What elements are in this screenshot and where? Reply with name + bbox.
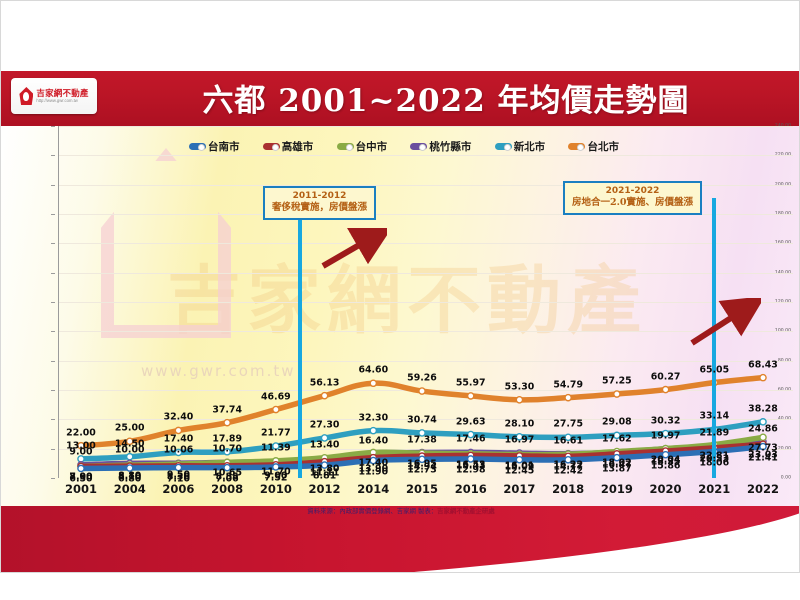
data-label-新北市-2016: 29.63 [456,416,486,427]
red-up-right-arrow-icon-2 [687,298,761,350]
data-label-台南市-2020: 15.86 [651,460,681,471]
data-point-台北市 [565,395,571,401]
x-axis-label-2004: 2004 [114,482,146,496]
footer-source-prefix: 資料來源：內政部實價登錄網、吉家網 製表： [307,507,437,515]
y-axis-tick-mark [51,390,55,391]
x-axis-label-2001: 2001 [65,482,97,496]
data-label-台南市-2016: 12.98 [456,464,486,475]
y-axis-tick-mark [51,243,55,244]
data-point-台北市 [614,391,620,397]
y-axis-tick-mark [51,331,55,332]
data-point-台北市 [321,393,327,399]
data-label-台北市-2004: 25.00 [115,423,145,434]
data-label-新北市-2018: 27.75 [553,419,583,430]
footer-red-shape [1,506,800,573]
data-point-台北市 [662,387,668,393]
data-point-台南市 [78,465,84,471]
data-point-台北市 [175,427,181,433]
x-axis-label-2010: 2010 [260,482,292,496]
logo-company-name: 吉家網不動產 [36,89,88,98]
data-point-台北市 [468,393,474,399]
data-label-台北市-2008: 37.74 [212,404,242,415]
data-label-桃竹縣市-2012: 13.40 [310,440,340,451]
x-axis-label-2008: 2008 [211,482,243,496]
y-axis-tick-mark [51,214,55,215]
data-label-台北市-2018: 54.79 [553,379,583,390]
data-point-台北市 [419,388,425,394]
data-label-台南市-2017: 12.45 [505,465,535,476]
footer-source-author: 吉家網不動產企研處 [437,507,495,515]
data-label-台南市-2014: 11.90 [358,466,388,477]
data-label-台北市-2014: 64.60 [358,365,388,376]
data-label-桃竹縣市-2001: 9.00 [69,446,92,457]
x-axis-label-2015: 2015 [406,482,438,496]
data-point-台北市 [760,375,766,381]
data-label-新北市-2020: 30.32 [651,415,681,426]
y-axis-tick-mark [51,185,55,186]
y-axis-tick-mark [51,302,55,303]
y-axis-tick-mark [51,273,55,274]
x-axis: 2001200420062008201020122014201520162017… [1,478,800,506]
data-label-台北市-2006: 32.40 [164,412,194,423]
page-title: 六都 2001~2022 年均價走勢圖 [111,74,781,120]
x-axis-label-2018: 2018 [552,482,584,496]
data-label-新北市-2019: 29.08 [602,417,632,428]
callout-2011-2012: 2011-2012 奢侈稅實施，房價盤漲 [263,186,376,220]
data-label-桃竹縣市-2018: 16.61 [553,435,583,446]
brand-logo: 吉家網不動產 http://www.gwr.com.tw [11,78,97,114]
data-label-桃竹縣市-2006: 10.06 [164,445,194,456]
data-label-桃竹縣市-2020: 19.97 [651,430,681,441]
slide-header: 吉家網不動產 http://www.gwr.com.tw 六都 2001~202… [1,68,800,126]
callout-note: 房地合一2.0實施、房價盤漲 [572,197,693,210]
data-label-台北市-2016: 55.97 [456,377,486,388]
data-label-新北市-2021: 33.14 [699,411,729,422]
data-label-台北市-2015: 59.26 [407,373,437,384]
data-label-台南市-2021: 18.06 [699,457,729,468]
footer-source-note: 資料來源：內政部實價登錄網、吉家網 製表：吉家網不動產企研處 [1,506,800,515]
data-point-台北市 [516,397,522,403]
data-label-桃竹縣市-2016: 17.46 [456,434,486,445]
data-point-台中市 [760,434,766,440]
data-label-桃竹縣市-2015: 17.38 [407,434,437,445]
data-label-台南市-2019: 13.87 [602,463,632,474]
callout-year: 2021-2022 [572,185,693,197]
y-axis-tick-mark [51,449,55,450]
data-label-桃竹縣市-2017: 16.97 [505,435,535,446]
data-label-桃竹縣市-2004: 10.00 [115,445,145,456]
data-point-新北市 [370,428,376,434]
x-axis-label-2017: 2017 [503,482,535,496]
data-label-新北市-2022: 38.28 [748,403,778,414]
chart-container: 吉家網不動產 www.gwr.com.tw 0.0020.0040.0060.0… [1,126,800,506]
data-label-台北市-2019: 57.25 [602,376,632,387]
data-label-台北市-2012: 56.13 [310,377,340,388]
data-label-台南市-2018: 12.42 [553,465,583,476]
data-label-台北市-2017: 53.30 [505,381,535,392]
x-axis-label-2012: 2012 [309,482,341,496]
data-label-桃竹縣市-2019: 17.62 [602,434,632,445]
data-label-新北市-2014: 32.30 [358,412,388,423]
y-axis-tick-mark [51,361,55,362]
callout-note: 奢侈稅實施，房價盤漲 [272,202,367,215]
data-label-台北市-2022: 68.43 [748,359,778,370]
x-axis-label-2014: 2014 [357,482,389,496]
slide-canvas: 吉家網不動產 http://www.gwr.com.tw 六都 2001~202… [0,0,800,573]
header-top-rule [1,68,800,71]
data-label-桃竹縣市-2022: 24.86 [748,423,778,434]
data-point-台北市 [370,380,376,386]
data-label-桃竹縣市-2014: 16.40 [358,435,388,446]
data-label-新北市-2015: 30.74 [407,414,437,425]
footer-band: 資料來源：內政部實價登錄網、吉家網 製表：吉家網不動產企研處 [1,506,800,573]
callout-2021-2022: 2021-2022 房地合一2.0實施、房價盤漲 [563,181,702,215]
data-label-新北市-2008: 17.89 [212,433,242,444]
data-label-台北市-2020: 60.27 [651,371,681,382]
x-axis-label-2006: 2006 [162,482,194,496]
data-point-台北市 [224,420,230,426]
data-label-桃竹縣市-2010: 11.39 [261,443,291,454]
data-label-新北市-2006: 17.40 [164,434,194,445]
data-label-新北市-2010: 21.77 [261,428,291,439]
event-marker-2011 [298,209,302,478]
data-label-台北市-2001: 22.00 [66,427,96,438]
data-point-台北市 [273,406,279,412]
data-label-台南市-2022: 21.41 [748,452,778,463]
y-axis-tick-mark [51,155,55,156]
y-axis-tick-mark [51,419,55,420]
x-axis-label-2019: 2019 [601,482,633,496]
data-label-新北市-2017: 28.10 [505,418,535,429]
data-label-新北市-2012: 27.30 [310,419,340,430]
callout-year: 2011-2012 [272,190,367,202]
house-flame-logo-icon [19,87,33,105]
x-axis-label-2016: 2016 [455,482,487,496]
x-axis-label-2021: 2021 [698,482,730,496]
data-label-桃竹縣市-2021: 21.89 [699,427,729,438]
data-label-台南市-2015: 12.73 [407,465,437,476]
data-label-桃竹縣市-2008: 10.70 [212,444,242,455]
x-axis-label-2022: 2022 [747,482,779,496]
logo-url: http://www.gwr.com.tw [36,99,88,103]
red-up-right-arrow-icon-1 [317,228,387,272]
data-label-台北市-2021: 65.05 [699,364,729,375]
data-label-台北市-2010: 46.69 [261,391,291,402]
x-axis-label-2020: 2020 [650,482,682,496]
y-axis-tick-mark [51,126,55,127]
